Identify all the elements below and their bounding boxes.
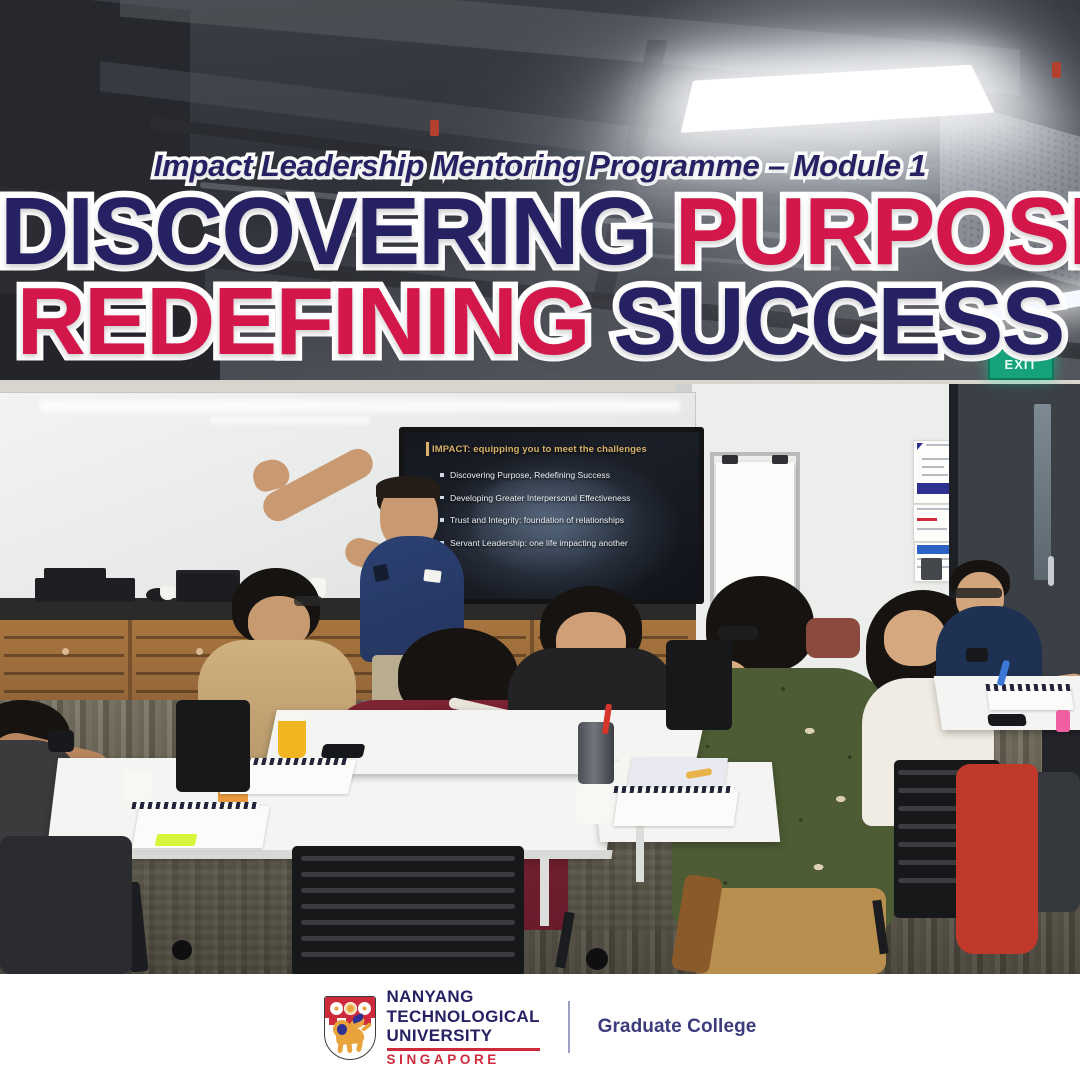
cup-lid <box>276 712 308 721</box>
title-block: Impact Leadership Mentoring Programme – … <box>0 150 1080 367</box>
participant-glasses <box>954 588 1002 598</box>
notice-text-line <box>922 466 944 468</box>
monitor <box>176 570 240 602</box>
headline-word-redefining: REDEFINING <box>17 268 589 375</box>
pink-marker <box>1056 710 1070 732</box>
av-equipment <box>35 578 135 602</box>
paper-cup-white <box>576 782 610 824</box>
ntu-red-rule <box>387 1048 540 1050</box>
notice-banner <box>917 483 951 494</box>
flipchart-clip <box>722 455 738 464</box>
crest-shield <box>324 996 376 1060</box>
cabinet-slat <box>4 672 124 675</box>
ntu-name-line-1: NANYANG <box>387 987 540 1006</box>
crest-rosette <box>344 1002 357 1015</box>
footer-brand-bar: NANYANG TECHNOLOGICAL UNIVERSITY SINGAPO… <box>0 974 1080 1080</box>
travel-tumbler <box>578 722 614 784</box>
ntu-logo-lockup: NANYANG TECHNOLOGICAL UNIVERSITY SINGAPO… <box>324 987 540 1066</box>
flipchart-paper <box>716 462 794 594</box>
notebook <box>628 758 728 786</box>
slide-bullet-list: Discovering Purpose, Redefining Success … <box>450 470 691 560</box>
slide-bullet: Trust and Integrity: foundation of relat… <box>450 515 691 525</box>
chair-caster <box>172 940 192 960</box>
crest-lion-leg <box>337 1041 344 1054</box>
crest-lion-face <box>337 1024 347 1035</box>
chair-caster <box>586 948 608 970</box>
slide-bullet: Developing Greater Interpersonal Effecti… <box>450 493 691 503</box>
crest-rosette <box>330 1002 343 1015</box>
crest-lion-leg <box>346 1042 352 1053</box>
presenter-watch <box>372 564 389 583</box>
headline-line-2: REDEFINING SUCCESS <box>0 277 1080 367</box>
presenter-hair-top <box>376 476 440 498</box>
cabinet-slat <box>4 690 124 693</box>
bag-on-chair <box>806 618 860 658</box>
classroom-photo: IMPACT: equipping you to meet the challe… <box>0 0 1080 974</box>
ntu-country-label: SINGAPORE <box>387 1053 540 1067</box>
cabinet-knob[interactable] <box>196 648 203 655</box>
notice-text-line <box>926 444 950 446</box>
wall-control-panel[interactable] <box>921 558 942 580</box>
ntu-wordmark: NANYANG TECHNOLOGICAL UNIVERSITY SINGAPO… <box>387 987 540 1066</box>
notice-text-line <box>922 458 950 460</box>
highlighter <box>155 834 198 846</box>
notebook <box>132 806 269 848</box>
participant-watch <box>48 730 74 752</box>
chair[interactable] <box>292 846 524 974</box>
coffee-cup-yellow <box>278 718 306 758</box>
participant-glasses <box>294 596 322 606</box>
paper-cup-white <box>124 770 152 804</box>
ntu-name-line-3: UNIVERSITY <box>387 1026 540 1045</box>
red-backpack <box>956 764 1038 954</box>
slide-bullet: Servant Leadership: one life impacting a… <box>450 538 691 548</box>
table-leg <box>636 820 644 882</box>
programme-kicker: Impact Leadership Mentoring Programme – … <box>0 150 1080 181</box>
smartphone[interactable] <box>987 714 1027 726</box>
notebook <box>613 790 738 826</box>
chair[interactable] <box>176 700 250 792</box>
notice-banner <box>917 545 951 554</box>
av-equipment <box>44 568 106 580</box>
table-leg <box>540 856 549 926</box>
notice-red-line <box>917 518 937 521</box>
headline: DISCOVERING PURPOSE, REDEFINING SUCCESS <box>0 187 1080 367</box>
ntu-name-line-2: TECHNOLOGICAL <box>387 1007 540 1026</box>
headline-line-1: DISCOVERING PURPOSE, <box>0 187 1080 277</box>
whiteboard-glare <box>40 400 680 412</box>
slide-title: IMPACT: equipping you to meet the challe… <box>432 444 647 455</box>
notice-text-line <box>922 474 948 476</box>
flipchart-clip <box>772 455 788 464</box>
logo-divider <box>568 1001 570 1053</box>
chair[interactable] <box>666 640 732 730</box>
participant-glasses <box>718 626 758 640</box>
slide-title-accent-bar <box>426 442 429 456</box>
presenter-name-badge <box>423 569 441 583</box>
whiteboard-glare <box>210 416 370 424</box>
sub-brand-label: Graduate College <box>598 1016 757 1038</box>
slide-bullet: Discovering Purpose, Redefining Success <box>450 470 691 480</box>
cabinet-slat <box>4 636 124 639</box>
cabinet-slat <box>136 636 258 639</box>
ntu-crest-icon <box>324 996 374 1058</box>
headline-word-success: SUCCESS <box>613 268 1063 375</box>
notice-text-line <box>917 508 949 510</box>
notebook-spiral <box>614 786 735 793</box>
notebook-spiral <box>131 802 260 809</box>
sprinkler-head <box>1052 62 1061 78</box>
participant-watch <box>966 648 988 662</box>
notice-text-line <box>917 528 947 530</box>
chair-foreground <box>0 836 132 974</box>
cabinet-knob[interactable] <box>62 648 69 655</box>
door-vision-panel <box>1034 404 1051 580</box>
sprinkler-head <box>430 120 439 136</box>
door-handle[interactable] <box>1048 556 1054 586</box>
smartphone[interactable] <box>321 744 366 758</box>
paper-cup <box>160 586 175 600</box>
poster-canvas: IMPACT: equipping you to meet the challe… <box>0 0 1080 1080</box>
